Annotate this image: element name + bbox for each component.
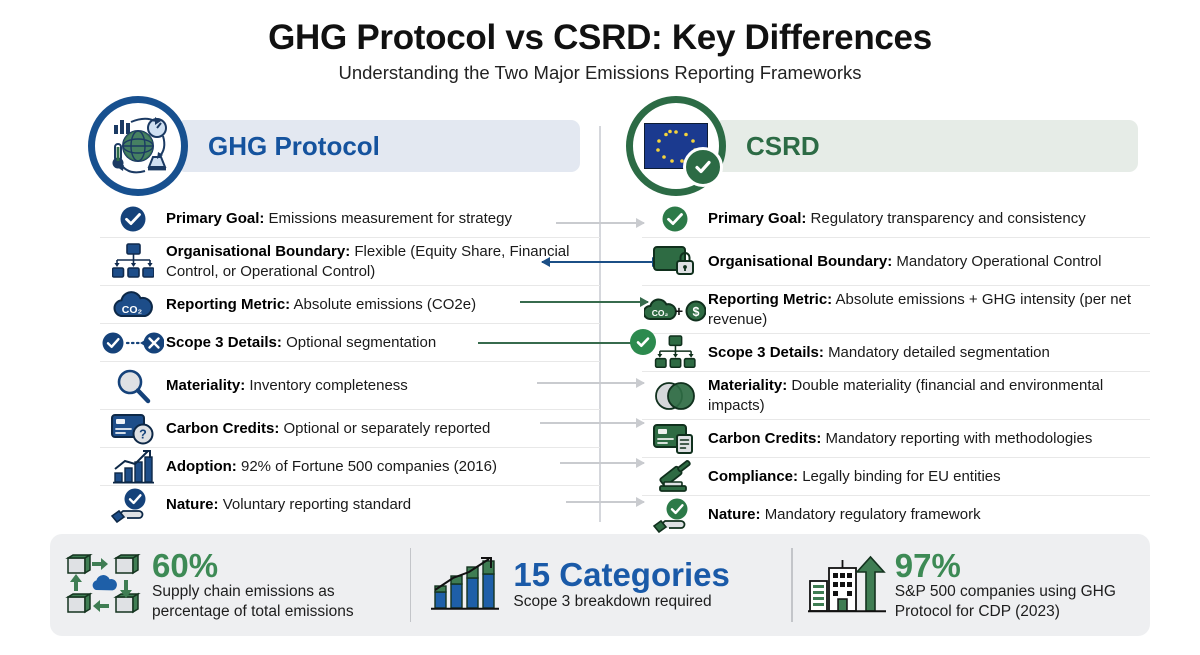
co2-cloud-icon: CO₂ — [100, 286, 166, 323]
row-value: Mandatory Operational Control — [896, 253, 1101, 270]
row-value: Optional segmentation — [286, 334, 436, 351]
venn-circles-icon — [642, 372, 708, 419]
row-label: Carbon Credits: — [708, 430, 821, 447]
stat-body: 97% S&P 500 companies using GHG Protocol… — [895, 549, 1116, 622]
page-subtitle: Understanding the Two Major Emissions Re… — [0, 62, 1200, 84]
row-value: 92% of Fortune 500 companies (2016) — [241, 458, 497, 475]
framework-bar-ghg: GHG Protocol — [176, 120, 580, 172]
stat-label-line1: Scope 3 breakdown required — [513, 593, 729, 612]
svg-text:+: + — [675, 303, 683, 319]
table-row: Primary Goal: Emissions measurement for … — [100, 200, 600, 238]
row-label: Reporting Metric: — [166, 296, 290, 313]
row-label: Organisational Boundary: — [166, 243, 350, 260]
row-label: Primary Goal: — [166, 210, 264, 227]
row-value: Mandatory reporting with methodologies — [826, 430, 1093, 447]
stat-number: 97% — [895, 549, 1116, 583]
framework-name-ghg: GHG Protocol — [208, 131, 380, 162]
stats-bar: 60% Supply chain emissions as percentage… — [50, 534, 1150, 636]
svg-text:$: $ — [693, 305, 700, 319]
row-text: Reporting Metric: Absolute emissions (CO… — [166, 295, 480, 315]
stat-body: 60% Supply chain emissions as percentage… — [152, 549, 354, 622]
row-text: Primary Goal: Emissions measurement for … — [166, 209, 516, 229]
stat-label-line1: Supply chain emissions as — [152, 583, 354, 602]
infographic-page: GHG Protocol vs CSRD: Key Differences Un… — [0, 0, 1200, 655]
row-text: Nature: Mandatory regulatory framework — [708, 505, 985, 525]
row-value: Optional or separately reported — [284, 420, 491, 437]
ghg-rows: Primary Goal: Emissions measurement for … — [100, 200, 600, 524]
table-row: ? Carbon Credits: Optional or separately… — [100, 410, 600, 448]
row-label: Nature: — [166, 496, 219, 513]
check-to-cross-icon — [100, 324, 166, 361]
supply-chain-cloud-icon — [56, 554, 152, 616]
stat-label-line2: Protocol for CDP (2023) — [895, 603, 1116, 622]
row-label: Nature: — [708, 506, 761, 523]
table-row: Nature: Mandatory regulatory framework — [642, 496, 1150, 534]
stat-sp500-adoption: 97% S&P 500 companies using GHG Protocol… — [793, 547, 1149, 623]
buildings-arrow-icon — [799, 554, 895, 616]
table-row: Adoption: 92% of Fortune 500 companies (… — [100, 448, 600, 486]
framework-name-csrd: CSRD — [746, 131, 820, 162]
row-label: Scope 3 Details: — [166, 334, 282, 351]
check-circle-icon — [642, 200, 708, 237]
table-row: CO₂ + $ Reporting Metric: Absolute emiss… — [642, 286, 1150, 334]
table-row: Nature: Voluntary reporting standard — [100, 486, 600, 524]
card-question-icon: ? — [100, 410, 166, 447]
row-text: Carbon Credits: Optional or separately r… — [166, 419, 494, 439]
page-title: GHG Protocol vs CSRD: Key Differences — [0, 18, 1200, 58]
gavel-icon — [642, 458, 708, 495]
check-circle-icon — [100, 200, 166, 237]
row-value: Regulatory transparency and consistency — [811, 210, 1086, 227]
table-row: Scope 3 Details: Mandatory detailed segm… — [642, 334, 1150, 372]
row-value: Emissions measurement for strategy — [269, 210, 512, 227]
csrd-rows: Primary Goal: Regulatory transparency an… — [642, 200, 1150, 534]
growth-bar-chart-icon — [417, 556, 513, 614]
stat-label-line2: percentage of total emissions — [152, 603, 354, 622]
row-label: Carbon Credits: — [166, 420, 279, 437]
row-value: Absolute emissions (CO2e) — [294, 296, 477, 313]
stat-scope3-categories: 15 Categories Scope 3 breakdown required — [411, 547, 791, 623]
org-chart-icon — [100, 238, 166, 285]
svg-text:?: ? — [139, 427, 147, 441]
framework-header-csrd: CSRD — [626, 96, 1138, 196]
table-row: Materiality: Double materiality (financi… — [642, 372, 1150, 420]
connector-check-icon — [630, 329, 656, 355]
svg-text:CO₂: CO₂ — [122, 304, 143, 316]
row-label: Organisational Boundary: — [708, 253, 892, 270]
eu-flag-check-icon — [626, 96, 726, 196]
table-row: Compliance: Legally binding for EU entit… — [642, 458, 1150, 496]
row-label: Scope 3 Details: — [708, 344, 824, 361]
table-row: Primary Goal: Regulatory transparency an… — [642, 200, 1150, 238]
framework-header-ghg: GHG Protocol — [88, 96, 580, 196]
stat-label-line1: S&P 500 companies using GHG — [895, 583, 1116, 602]
magnifier-icon — [100, 362, 166, 409]
hand-check-icon — [642, 496, 708, 534]
row-text: Scope 3 Details: Optional segmentation — [166, 333, 440, 353]
stat-body: 15 Categories Scope 3 breakdown required — [513, 558, 729, 611]
globe-analytics-icon — [88, 96, 188, 196]
row-text: Nature: Voluntary reporting standard — [166, 495, 415, 515]
row-label: Materiality: — [166, 377, 245, 394]
stat-number: 60% — [152, 549, 354, 583]
table-row: Materiality: Inventory completeness — [100, 362, 600, 410]
framework-bar-csrd: CSRD — [714, 120, 1138, 172]
row-text: Materiality: Double materiality (financi… — [708, 376, 1150, 416]
table-row: Scope 3 Details: Optional segmentation — [100, 324, 600, 362]
growth-bar-chart-icon — [100, 448, 166, 485]
svg-text:CO₂: CO₂ — [652, 308, 669, 318]
row-label: Materiality: — [708, 377, 787, 394]
row-value: Inventory completeness — [249, 377, 407, 394]
table-row: CO₂ Reporting Metric: Absolute emissions… — [100, 286, 600, 324]
row-label: Reporting Metric: — [708, 291, 832, 308]
table-row: Organisational Boundary: Flexible (Equit… — [100, 238, 600, 286]
table-row: Organisational Boundary: Mandatory Opera… — [642, 238, 1150, 286]
row-text: Organisational Boundary: Mandatory Opera… — [708, 252, 1105, 272]
row-text: Compliance: Legally binding for EU entit… — [708, 467, 1005, 487]
row-text: Scope 3 Details: Mandatory detailed segm… — [708, 343, 1054, 363]
stat-supply-chain: 60% Supply chain emissions as percentage… — [50, 547, 410, 623]
verified-check-icon — [683, 147, 723, 187]
row-label: Primary Goal: — [708, 210, 806, 227]
locked-box-icon — [642, 238, 708, 285]
row-text: Carbon Credits: Mandatory reporting with… — [708, 429, 1096, 449]
row-label: Compliance: — [708, 468, 798, 485]
row-value: Mandatory detailed segmentation — [828, 344, 1050, 361]
stat-number: 15 Categories — [513, 558, 729, 592]
row-text: Materiality: Inventory completeness — [166, 376, 412, 396]
hand-check-icon — [100, 486, 166, 524]
table-row: Carbon Credits: Mandatory reporting with… — [642, 420, 1150, 458]
row-value: Mandatory regulatory framework — [765, 506, 981, 523]
card-document-icon — [642, 420, 708, 457]
co2-plus-money-icon: CO₂ + $ — [642, 286, 708, 333]
row-text: Organisational Boundary: Flexible (Equit… — [166, 242, 600, 282]
row-text: Primary Goal: Regulatory transparency an… — [708, 209, 1090, 229]
row-value: Voluntary reporting standard — [223, 496, 411, 513]
row-text: Adoption: 92% of Fortune 500 companies (… — [166, 457, 501, 477]
row-value: Legally binding for EU entities — [802, 468, 1000, 485]
row-text: Reporting Metric: Absolute emissions + G… — [708, 290, 1150, 330]
row-label: Adoption: — [166, 458, 237, 475]
